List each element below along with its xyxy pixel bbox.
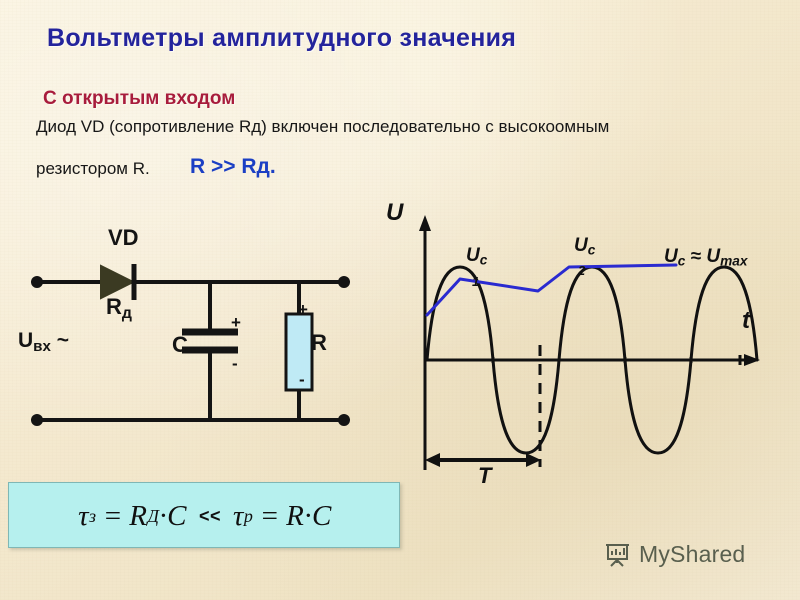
diode-label: VD xyxy=(108,225,139,251)
annotation-uc2: Uc xyxy=(574,235,595,257)
formula-rd-subscript: Д xyxy=(147,506,159,527)
tau-discharge: τ xyxy=(233,500,244,533)
period-arrow-head-left xyxy=(425,453,440,467)
watermark-text: MyShared xyxy=(639,541,745,568)
uvh-base: U xyxy=(18,329,33,352)
formula-box: τз = RД·C<<τp = R·C xyxy=(8,482,400,548)
chart-x-axis-label: t xyxy=(742,307,750,335)
uc1-base: U xyxy=(466,245,480,266)
presentation-board-icon xyxy=(605,542,631,568)
page-title: Вольтметры амплитудного значения xyxy=(47,24,516,53)
formula-dot-1: · xyxy=(159,500,167,533)
inequality-callout: R >> Rд. xyxy=(190,155,276,179)
period-label: T xyxy=(478,463,491,489)
terminal-output-top xyxy=(338,276,350,288)
uc2-base: U xyxy=(574,235,588,256)
circuit-diagram xyxy=(14,262,384,462)
rd-base: R xyxy=(106,294,122,319)
umax-subscript: max xyxy=(720,253,747,268)
formula-equals-1: = xyxy=(103,500,123,533)
formula-c-2: C xyxy=(312,500,332,533)
watermark: MyShared xyxy=(605,541,745,568)
annotation-uc1-index: 1 xyxy=(472,274,479,289)
resistor-label: R xyxy=(311,330,327,356)
resistor-minus-sign: - xyxy=(299,370,305,390)
diode-resistance-label: Rд xyxy=(106,294,132,323)
input-voltage-label: Uвх ~ xyxy=(18,329,69,355)
body-text-line-1: Диод VD (сопротивление Rд) включен после… xyxy=(36,117,609,137)
much-less-than-sign: << xyxy=(187,506,233,527)
annotation-uc-approx-umax: Uc ≈ Umax xyxy=(664,246,747,268)
body-text-line-2: резистором R. xyxy=(36,159,150,179)
ucmax-base: U xyxy=(664,246,678,267)
capacitor-plus-sign: + xyxy=(231,313,241,333)
annotation-uc2-index: 2 xyxy=(578,263,585,278)
formula-equals-2: = xyxy=(260,500,280,533)
chart-y-axis-label: U xyxy=(386,199,403,227)
tau-charge-subscript: з xyxy=(89,506,97,527)
capacitor-label: C xyxy=(172,332,188,358)
uc1-subscript: c xyxy=(480,252,488,267)
terminal-output-bottom xyxy=(338,414,350,426)
approx-sign: ≈ xyxy=(691,246,701,267)
terminal-input-top xyxy=(31,276,43,288)
ac-tilde-icon: ~ xyxy=(57,329,69,352)
ucmax-subscript: c xyxy=(678,253,686,268)
formula-c-1: C xyxy=(167,500,187,533)
annotation-uc1: Uc xyxy=(466,245,487,267)
section-subtitle: С открытым входом xyxy=(43,88,235,110)
formula-expression: τз = RД·C<<τp = R·C xyxy=(9,483,401,549)
formula-rd: R xyxy=(129,500,147,533)
chart-y-axis-arrow xyxy=(419,215,431,231)
uvh-subscript: вх xyxy=(33,338,51,355)
tau-charge: τ xyxy=(78,500,89,533)
uc2-subscript: c xyxy=(588,242,596,257)
rd-subscript: д xyxy=(122,305,132,322)
tau-discharge-subscript: p xyxy=(244,506,253,527)
formula-r: R xyxy=(286,500,304,533)
terminal-input-bottom xyxy=(31,414,43,426)
formula-dot-2: · xyxy=(304,500,312,533)
capacitor-voltage-envelope xyxy=(427,265,676,315)
capacitor-minus-sign: - xyxy=(232,354,238,374)
umax-base: U xyxy=(706,246,720,267)
resistor-plus-sign: + xyxy=(298,300,308,320)
